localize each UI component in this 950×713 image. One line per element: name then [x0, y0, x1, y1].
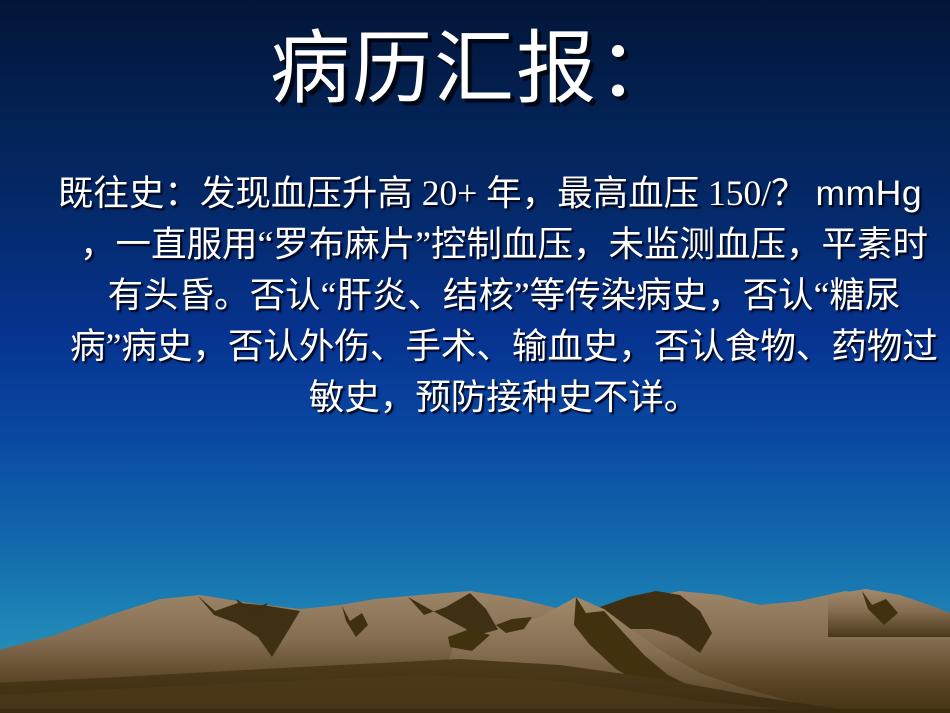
slide-canvas: 病历汇报： 既往史：发现血压升高 20+ 年，最高血压 150/？ mmHg ，… [0, 0, 950, 713]
bottom-strip [0, 709, 950, 713]
slide-title: 病历汇报： [0, 26, 950, 114]
body-segment-rest: ，一直服用“罗布麻片”控制血压，未监测血压，平素时有头昏。否认“肝炎、结核”等传… [70, 224, 938, 417]
scenery-svg [0, 533, 950, 713]
body-segment-lead: 既往史：发现血压升高 20+ 年，最高血压 150/？ [58, 173, 816, 213]
body-segment-unit: mmHg [816, 173, 923, 213]
mountain-scenery [0, 533, 950, 713]
slide-body-text: 既往史：发现血压升高 20+ 年，最高血压 150/？ mmHg ，一直服用“罗… [38, 168, 942, 423]
